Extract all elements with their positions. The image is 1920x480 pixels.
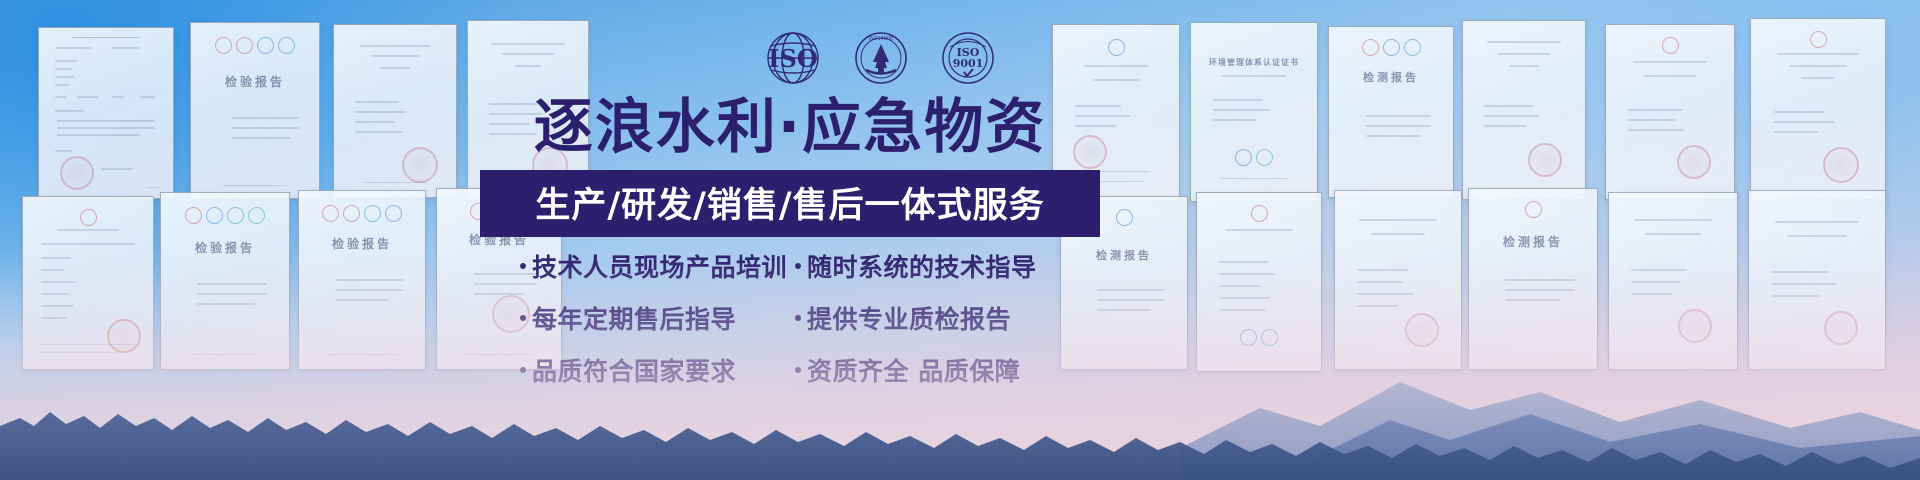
- certificate-title: 检验报告: [197, 73, 313, 90]
- cert-logo-icon: [1383, 39, 1400, 56]
- ccc-logo-icon: [236, 37, 253, 54]
- certificate-thumbnail: [333, 24, 457, 198]
- feature-item: 随时系统的技术指导: [795, 248, 1065, 284]
- certificate-thumbnail: [1608, 192, 1738, 370]
- bullet-dot-icon: [520, 315, 526, 321]
- certificate-title: 检测报告: [1475, 233, 1591, 250]
- certificate-thumbnail: 检验报告: [298, 190, 426, 370]
- iso-globe-badge: ISO: [764, 30, 822, 91]
- cqc-logo-icon: [215, 37, 232, 54]
- certificate-thumbnail: [1750, 18, 1886, 200]
- cert-logo-icon: [1251, 205, 1268, 222]
- cert-logo-icon: [1662, 37, 1679, 54]
- feature-item: 提供专业质检报告: [795, 300, 1065, 336]
- svg-text:ISO14000: ISO14000: [869, 36, 894, 42]
- feature-item: 技术人员现场产品培训: [520, 248, 795, 284]
- page-title: 逐浪水利·应急物资: [480, 96, 1100, 158]
- bullet-dot-icon: [520, 263, 526, 269]
- cert-logo-icon: [1116, 209, 1133, 226]
- cert-logo-icon: [385, 205, 402, 222]
- promo-banner: 检验报告: [0, 0, 1920, 480]
- certificate-thumbnail: [1196, 192, 1322, 372]
- bullet-dot-icon: [520, 367, 526, 373]
- certificate-title: 环境管理体系认证证书: [1197, 57, 1311, 68]
- cert-logo-icon: [257, 37, 274, 54]
- certificate-thumbnail: [1334, 190, 1462, 370]
- cert-logo-icon: [1261, 329, 1278, 346]
- iso-14000-badge: ISO14000: [852, 30, 910, 91]
- feature-label: 资质齐全 品质保障: [807, 352, 1020, 388]
- cert-logo-icon: [248, 207, 265, 224]
- feature-label: 技术人员现场产品培训: [532, 248, 787, 284]
- feature-item: 资质齐全 品质保障: [795, 352, 1065, 388]
- cert-logo-icon: [1525, 201, 1542, 218]
- feature-label: 品质符合国家要求: [532, 352, 736, 388]
- bullet-dot-icon: [795, 315, 801, 321]
- certificate-title: 检测报告: [1335, 69, 1447, 85]
- iso-9001-line2: 9001: [953, 57, 984, 70]
- certificate-thumbnail: [1462, 20, 1586, 200]
- iso-badge-text: ISO: [768, 44, 817, 73]
- certificate-thumbnail: [1605, 24, 1735, 200]
- cert-logo-icon: [1362, 39, 1379, 56]
- certificate-thumbnail: 环境管理体系认证证书: [1190, 22, 1318, 202]
- certificate-thumbnail: 检验报告: [190, 22, 320, 199]
- iso-9001-badge: ISO 9001: [940, 30, 996, 91]
- feature-label: 提供专业质检报告: [807, 300, 1011, 336]
- cert-logo-icon: [1404, 39, 1421, 56]
- cert-logo-icon: [1256, 149, 1273, 166]
- ccc-logo-icon: [343, 205, 360, 222]
- feature-label: 每年定期售后指导: [532, 300, 736, 336]
- ccc-logo-icon: [185, 207, 202, 224]
- certificate-thumbnail: 检验报告: [160, 192, 290, 370]
- certificate-title: 检验报告: [167, 239, 283, 256]
- certificate-thumbnail: 检测报告: [1328, 26, 1454, 198]
- cert-logo-icon: [1108, 39, 1125, 56]
- cert-logo-icon: [206, 207, 223, 224]
- feature-item: 每年定期售后指导: [520, 300, 795, 336]
- cert-logo-icon: [227, 207, 244, 224]
- cqc-logo-icon: [322, 205, 339, 222]
- headline-block: 逐浪水利·应急物资 生产/研发/销售/售后一体式服务: [480, 96, 1100, 237]
- cert-logo-icon: [1235, 149, 1252, 166]
- certificate-thumbnail: [1748, 190, 1886, 370]
- certificate-title: 检验报告: [305, 235, 419, 252]
- certificate-thumbnail: [38, 27, 174, 199]
- certificate-thumbnail: 检测报告: [1468, 188, 1598, 370]
- certificate-thumbnail: [22, 196, 154, 370]
- bullet-dot-icon: [795, 367, 801, 373]
- cert-logo-icon: [278, 37, 295, 54]
- feature-list: 技术人员现场产品培训 随时系统的技术指导 每年定期售后指导 提供专业质检报告 品…: [520, 248, 1065, 388]
- cert-logo-icon: [1810, 31, 1827, 48]
- cert-logo-icon: [364, 205, 381, 222]
- certificate-title: 检测报告: [1067, 247, 1181, 263]
- cqc-logo-icon: [80, 209, 97, 226]
- bullet-dot-icon: [795, 263, 801, 269]
- certification-badges: ISO ISO14000 ISO 9001: [690, 30, 1070, 91]
- cert-logo-icon: [1240, 329, 1257, 346]
- feature-label: 随时系统的技术指导: [807, 248, 1037, 284]
- subtitle-banner: 生产/研发/销售/售后一体式服务: [480, 170, 1100, 237]
- feature-item: 品质符合国家要求: [520, 352, 795, 388]
